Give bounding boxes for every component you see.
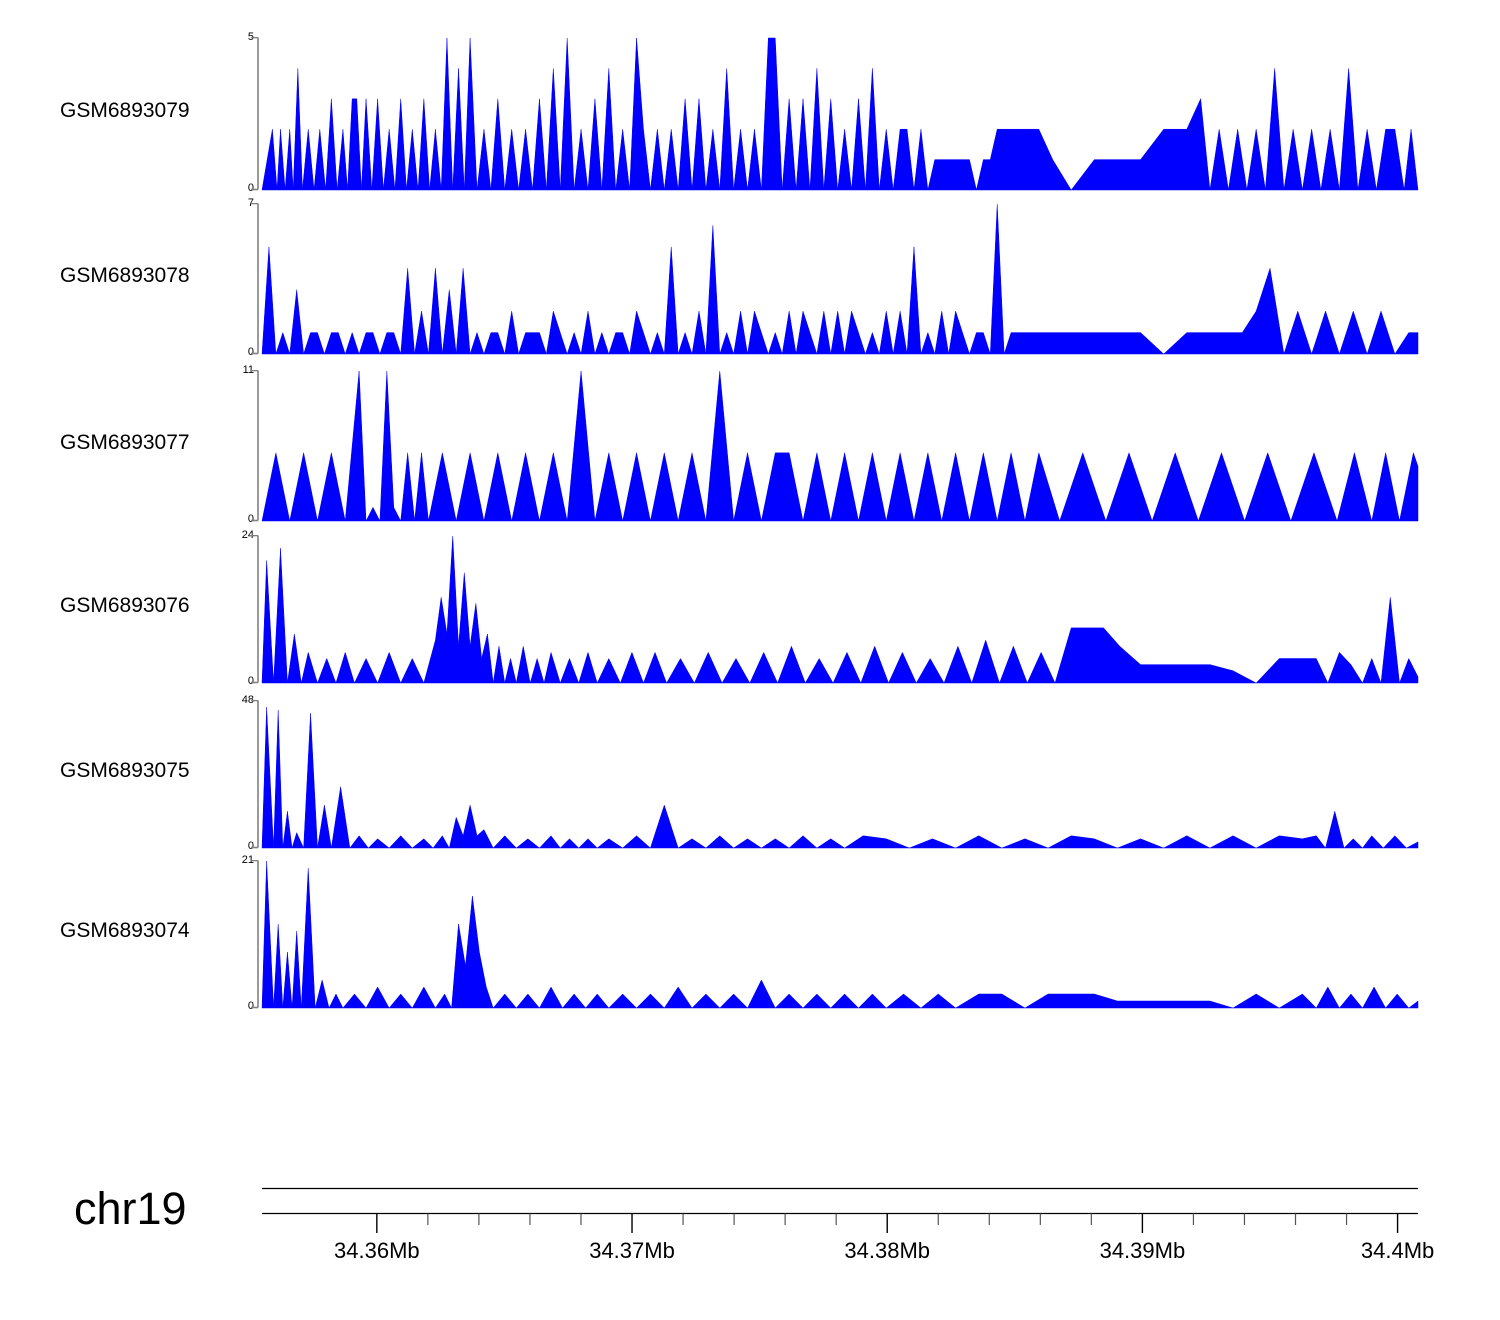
axis-tick-label: 34.4Mb bbox=[1328, 1238, 1468, 1264]
genomic-axis bbox=[0, 1180, 1500, 1290]
axis-tick-label: 34.36Mb bbox=[307, 1238, 447, 1264]
coverage-plot bbox=[0, 203, 1500, 358]
coverage-plot bbox=[0, 370, 1500, 525]
coverage-area bbox=[262, 861, 1418, 1008]
coverage-area bbox=[262, 536, 1418, 683]
coverage-area bbox=[262, 38, 1418, 190]
genome-browser: GSM689307950GSM689307870GSM6893077110GSM… bbox=[0, 0, 1500, 1320]
axis-tick-label: 34.38Mb bbox=[817, 1238, 957, 1264]
axis-tick-label: 34.37Mb bbox=[562, 1238, 702, 1264]
coverage-track[interactable]: GSM6893077110 bbox=[0, 370, 1500, 521]
coverage-track[interactable]: GSM6893074210 bbox=[0, 860, 1500, 1008]
coverage-plot bbox=[0, 535, 1500, 687]
axis-tick-label: 34.39Mb bbox=[1072, 1238, 1212, 1264]
coverage-track[interactable]: GSM689307870 bbox=[0, 203, 1500, 354]
coverage-track[interactable]: GSM6893076240 bbox=[0, 535, 1500, 683]
coverage-area bbox=[262, 204, 1418, 354]
coverage-track[interactable]: GSM6893075480 bbox=[0, 700, 1500, 848]
coverage-plot bbox=[0, 860, 1500, 1012]
chromosome-label: chr19 bbox=[74, 1183, 187, 1235]
coverage-plot bbox=[0, 700, 1500, 852]
coverage-plot bbox=[0, 37, 1500, 194]
coverage-area bbox=[262, 371, 1418, 521]
coverage-track[interactable]: GSM689307950 bbox=[0, 37, 1500, 190]
axis-svg bbox=[0, 1180, 1500, 1240]
coverage-area bbox=[262, 707, 1418, 848]
